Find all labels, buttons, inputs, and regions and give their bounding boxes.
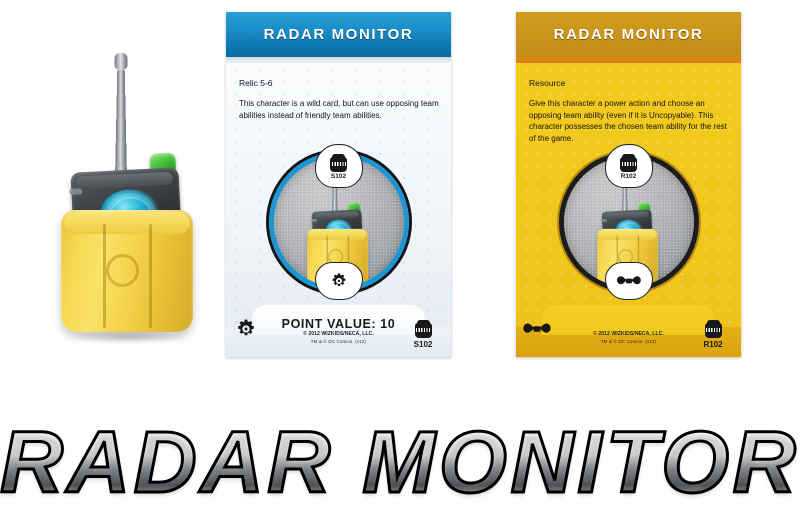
heroclix-logo-icon — [330, 157, 347, 172]
holster-seam — [149, 224, 152, 328]
side-knob — [69, 188, 82, 195]
antenna-segment — [117, 70, 125, 96]
card-kicker: Relic 5-6 — [239, 78, 273, 88]
heroclix-logo-icon — [415, 323, 432, 338]
yellow-holster — [61, 210, 193, 332]
badge-code: R102 — [621, 173, 637, 181]
set-code: S102 — [402, 340, 444, 349]
relic-card-blue[interactable]: RADAR MONITOR Relic 5-6 This character i… — [226, 12, 451, 357]
antenna-segment — [116, 118, 126, 144]
holster-ring — [106, 254, 139, 287]
set-code: R102 — [692, 340, 734, 349]
side-knob — [311, 219, 317, 222]
radio-unit-top — [604, 211, 648, 219]
radar-monitor-figure — [55, 45, 205, 345]
card-body: Resource Give this character a power act… — [516, 68, 741, 308]
card-art-circle: R102 — [559, 152, 699, 292]
set-badge-top: R102 — [605, 144, 653, 188]
walkie-talkie-icon — [522, 321, 552, 337]
resource-card-gold[interactable]: RADAR MONITOR Resource Give this charact… — [516, 12, 741, 357]
antenna-segment — [115, 142, 126, 168]
gear-icon — [235, 318, 257, 340]
set-badge-top: S102 — [315, 144, 363, 188]
radio-unit-top — [77, 172, 174, 190]
set-code-badge: R102 — [692, 323, 734, 349]
card-kicker: Resource — [529, 78, 565, 88]
card-footer: POINT VALUE: 10 © 2012 WIZKIDS/NECA, LLC… — [226, 305, 451, 357]
antenna-icon — [114, 53, 127, 188]
antenna-segment — [116, 94, 125, 120]
figure-pane — [0, 0, 222, 400]
heroclix-logo-icon — [705, 323, 722, 338]
badge-code: S102 — [331, 173, 346, 181]
symbol-badge-bottom — [315, 262, 363, 300]
card-title: RADAR MONITOR — [554, 26, 704, 43]
card-body: Relic 5-6 This character is a wild card,… — [226, 68, 451, 308]
card-header-blue: RADAR MONITOR — [226, 12, 451, 57]
header-stripe — [226, 57, 451, 63]
card-header-gold: RADAR MONITOR — [516, 12, 741, 57]
card-rules-text: This character is a wild card, but can u… — [239, 98, 439, 121]
holster-lip — [598, 230, 656, 240]
holster-lip — [308, 230, 366, 240]
holster-seam — [103, 224, 106, 328]
figure-shadow — [71, 330, 187, 344]
card-footer: © 2012 WIZKIDS/NECA, LLC. TM & © DC Comi… — [516, 305, 741, 357]
side-knob — [601, 219, 607, 222]
header-stripe — [516, 57, 741, 63]
card-art-circle: S102 — [269, 152, 409, 292]
set-code-badge: S102 — [402, 323, 444, 349]
radio-unit-top — [314, 211, 358, 219]
walkie-talkie-icon — [616, 274, 642, 288]
heroclix-logo-icon — [620, 157, 637, 172]
screenshot-stage: RADAR MONITOR Relic 5-6 This character i… — [0, 0, 800, 518]
antenna-cap — [114, 53, 127, 70]
product-title-banner: RADAR MONITOR — [0, 406, 800, 518]
card-rules-text: Give this character a power action and c… — [529, 98, 729, 144]
card-title: RADAR MONITOR — [264, 26, 414, 43]
gear-icon — [330, 272, 348, 290]
symbol-badge-bottom — [605, 262, 653, 300]
holster-lip — [64, 212, 190, 234]
product-title: RADAR MONITOR — [0, 419, 800, 506]
